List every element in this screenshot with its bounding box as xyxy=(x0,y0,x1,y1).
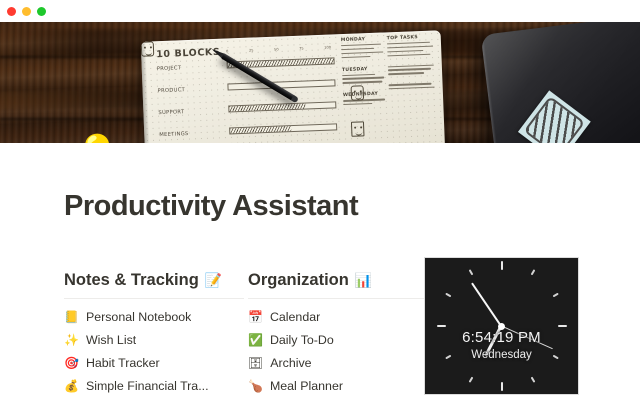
money-bag-icon: 💰 xyxy=(64,380,79,392)
row-bar xyxy=(228,101,336,112)
list-item-daily-to-do[interactable]: ✅ Daily To-Do xyxy=(248,331,428,349)
list-item-wish-list[interactable]: ✨ Wish List xyxy=(64,331,244,349)
list-item-label: Meal Planner xyxy=(270,379,343,393)
row-label: PRODUCT xyxy=(158,87,186,94)
list-item-simple-financial-tracker[interactable]: 💰 Simple Financial Tra... xyxy=(64,377,244,395)
section-title: Organization xyxy=(248,271,349,290)
maximize-window-button[interactable] xyxy=(37,7,46,16)
file-cabinet-icon: 🗄 xyxy=(248,357,263,369)
light-bulb-icon[interactable]: 💡 xyxy=(76,134,114,143)
section-title: Notes & Tracking xyxy=(64,271,199,290)
column-organization: Organization 📊 📅 Calendar ✅ Daily To-Do … xyxy=(248,271,428,395)
calendar-icon: 📅 xyxy=(248,311,263,323)
scale-tick: 75 xyxy=(299,47,304,52)
check-mark-icon: ✅ xyxy=(248,334,263,346)
scale-tick: 50 xyxy=(274,48,279,53)
link-list-organization: 📅 Calendar ✅ Daily To-Do 🗄 Archive 🍗 Mea… xyxy=(248,308,428,395)
clock-face: 6:54:19 PM Wednesday xyxy=(437,261,567,391)
row-label: PROJECT xyxy=(157,65,182,72)
link-list-notes-tracking: 📒 Personal Notebook ✨ Wish List 🎯 Habit … xyxy=(64,308,244,395)
list-item-meal-planner[interactable]: 🍗 Meal Planner xyxy=(248,377,428,395)
notebook-doodle xyxy=(351,85,365,100)
notebook-doodle xyxy=(351,121,365,136)
section-divider xyxy=(248,298,428,299)
list-item-label: Simple Financial Tra... xyxy=(86,379,209,393)
poultry-leg-icon: 🍗 xyxy=(248,380,263,392)
column-notes-tracking: Notes & Tracking 📝 📒 Personal Notebook ✨… xyxy=(64,271,244,395)
notebook-doodle xyxy=(141,41,155,56)
list-item-label: Habit Tracker xyxy=(86,356,160,370)
page-title[interactable]: Productivity Assistant xyxy=(64,190,358,223)
clock-minute-hand xyxy=(471,282,502,326)
list-item-label: Wish List xyxy=(86,333,136,347)
scale-tick: 100 xyxy=(324,46,331,51)
schedule-heading: MONDAY xyxy=(341,36,387,43)
memo-icon: 📝 xyxy=(205,274,222,288)
schedule-heading: WEDNESDAY xyxy=(343,92,389,99)
list-item-habit-tracker[interactable]: 🎯 Habit Tracker xyxy=(64,354,244,372)
notebook-schedule-column: MONDAY TUESDAY WEDNESDAY xyxy=(341,36,390,108)
minimize-window-button[interactable] xyxy=(22,7,31,16)
laptop-photo-element xyxy=(481,22,640,143)
row-label: MEETINGS xyxy=(159,131,189,138)
clock-weekday-label: Wednesday xyxy=(437,349,567,361)
sparkles-icon: ✨ xyxy=(64,334,79,346)
list-item-archive[interactable]: 🗄 Archive xyxy=(248,354,428,372)
section-header-notes-tracking: Notes & Tracking 📝 xyxy=(64,271,244,290)
clock-digital-time: 6:54:19 PM xyxy=(437,329,567,346)
notebook-tasks-column: TOP TASKS xyxy=(387,34,439,92)
page-cover-image[interactable]: 10 BLOCKS 0 25 50 75 100 PROJECT PRODUCT… xyxy=(0,22,640,143)
notebook-photo-element: 10 BLOCKS 0 25 50 75 100 PROJECT PRODUCT… xyxy=(141,30,446,143)
traffic-lights xyxy=(7,7,46,16)
list-item-label: Daily To-Do xyxy=(270,333,334,347)
close-window-button[interactable] xyxy=(7,7,16,16)
list-item-personal-notebook[interactable]: 📒 Personal Notebook xyxy=(64,308,244,326)
bar-chart-icon: 📊 xyxy=(355,274,372,288)
section-header-organization: Organization 📊 xyxy=(248,271,428,290)
section-divider xyxy=(64,298,244,299)
row-label: SUPPORT xyxy=(158,109,184,116)
row-bar xyxy=(229,123,337,134)
ledger-icon: 📒 xyxy=(64,311,79,323)
window-title-bar xyxy=(0,0,640,22)
clock-widget[interactable]: 6:54:19 PM Wednesday xyxy=(424,257,579,395)
tasks-heading: TOP TASKS xyxy=(387,34,437,41)
scale-tick: 25 xyxy=(249,48,254,53)
clock-center-cap xyxy=(498,323,505,330)
list-item-label: Archive xyxy=(270,356,311,370)
list-item-label: Personal Notebook xyxy=(86,310,191,324)
list-item-label: Calendar xyxy=(270,310,320,324)
list-item-calendar[interactable]: 📅 Calendar xyxy=(248,308,428,326)
target-icon: 🎯 xyxy=(64,357,79,369)
schedule-heading: TUESDAY xyxy=(342,66,388,73)
